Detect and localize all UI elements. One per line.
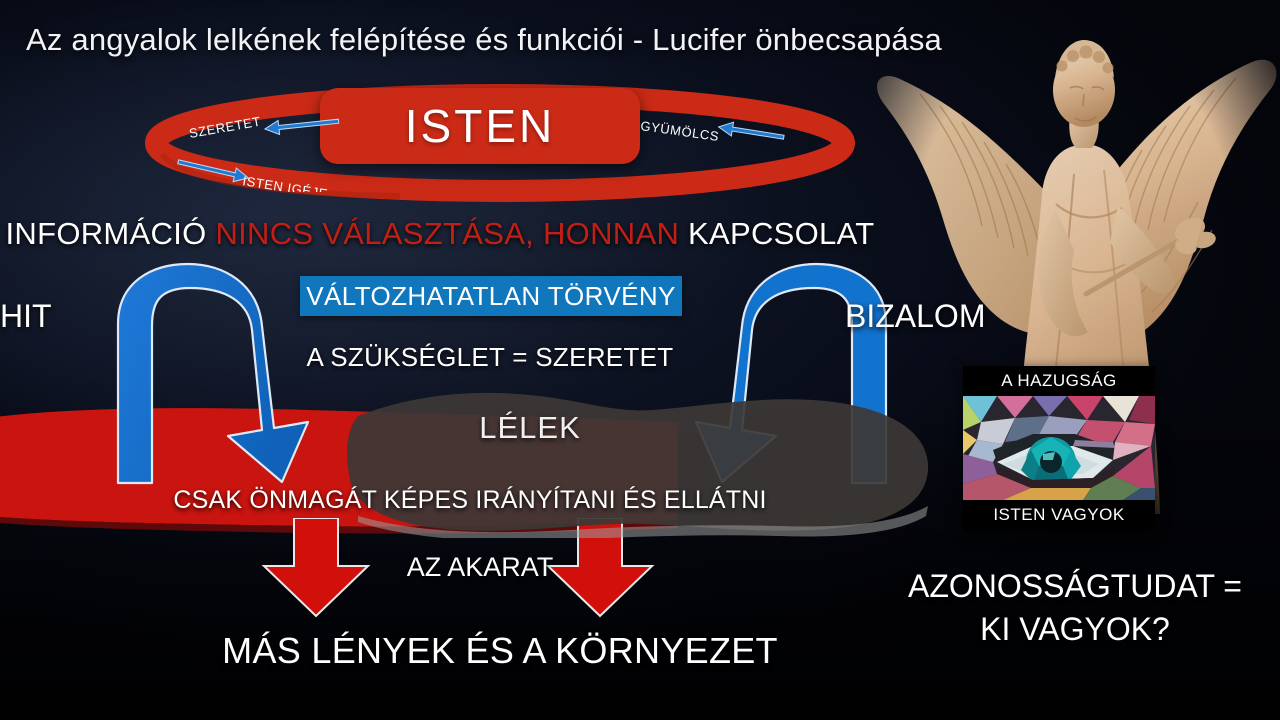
faith-label: HIT	[0, 298, 52, 335]
cycle-label-szeretet-group: SZERETET	[186, 112, 376, 151]
identity-question: AZONOSSÁGTUDAT = KI VAGYOK?	[880, 565, 1270, 651]
polygonal-eye-image	[963, 396, 1155, 500]
information-row: INFORMÁCIÓ NINCS VÁLASZTÁSA, HONNAN KAPC…	[0, 216, 880, 252]
trust-label: BIZALOM	[845, 298, 985, 335]
lie-card: A HAZUGSÁG	[963, 366, 1155, 530]
info-left-text: INFORMÁCIÓ	[5, 216, 215, 251]
cycle-label-szeretet: SZERETET	[188, 114, 262, 141]
cycle-label-gyumolcs: GYÜMÖLCS	[640, 118, 721, 144]
left-arrow-icon	[717, 120, 784, 144]
info-right-text: KAPCSOLAT	[679, 216, 874, 251]
slide-canvas: Az angyalok lelkének felépítése és funkc…	[0, 0, 1280, 720]
immutable-law-box: VÁLTOZHATATLAN TÖRVÉNY	[300, 276, 682, 316]
soul-description: CSAK ÖNMAGÁT KÉPES IRÁNYÍTANI ÉS ELLÁTNI	[0, 486, 940, 515]
need-equals-love-label: A SZÜKSÉGLET = SZERETET	[0, 342, 980, 373]
environment-label: MÁS LÉNYEK ÉS A KÖRNYEZET	[0, 630, 1000, 672]
info-middle-text: NINCS VÁLASZTÁSA, HONNAN	[215, 216, 679, 251]
soul-label: LÉLEK	[340, 410, 720, 446]
cycle-label-igeje-group: ISTEN IGÉJE	[176, 152, 376, 197]
lie-bottom-label: ISTEN VAGYOK	[963, 500, 1155, 530]
will-label: AZ AKARAT	[0, 552, 960, 583]
identity-line-2: KI VAGYOK?	[880, 608, 1270, 651]
cycle-label-gyumolcs-group: GYÜMÖLCS	[638, 112, 818, 151]
right-arrow-icon	[177, 155, 250, 185]
identity-line-1: AZONOSSÁGTUDAT =	[880, 565, 1270, 608]
left-arrow-icon	[264, 114, 339, 136]
lie-top-label: A HAZUGSÁG	[963, 366, 1155, 396]
page-title: Az angyalok lelkének felépítése és funkc…	[26, 22, 942, 58]
cycle-label-igeje: ISTEN IGÉJE	[242, 173, 329, 192]
immutable-law-label: VÁLTOZHATATLAN TÖRVÉNY	[306, 281, 676, 312]
